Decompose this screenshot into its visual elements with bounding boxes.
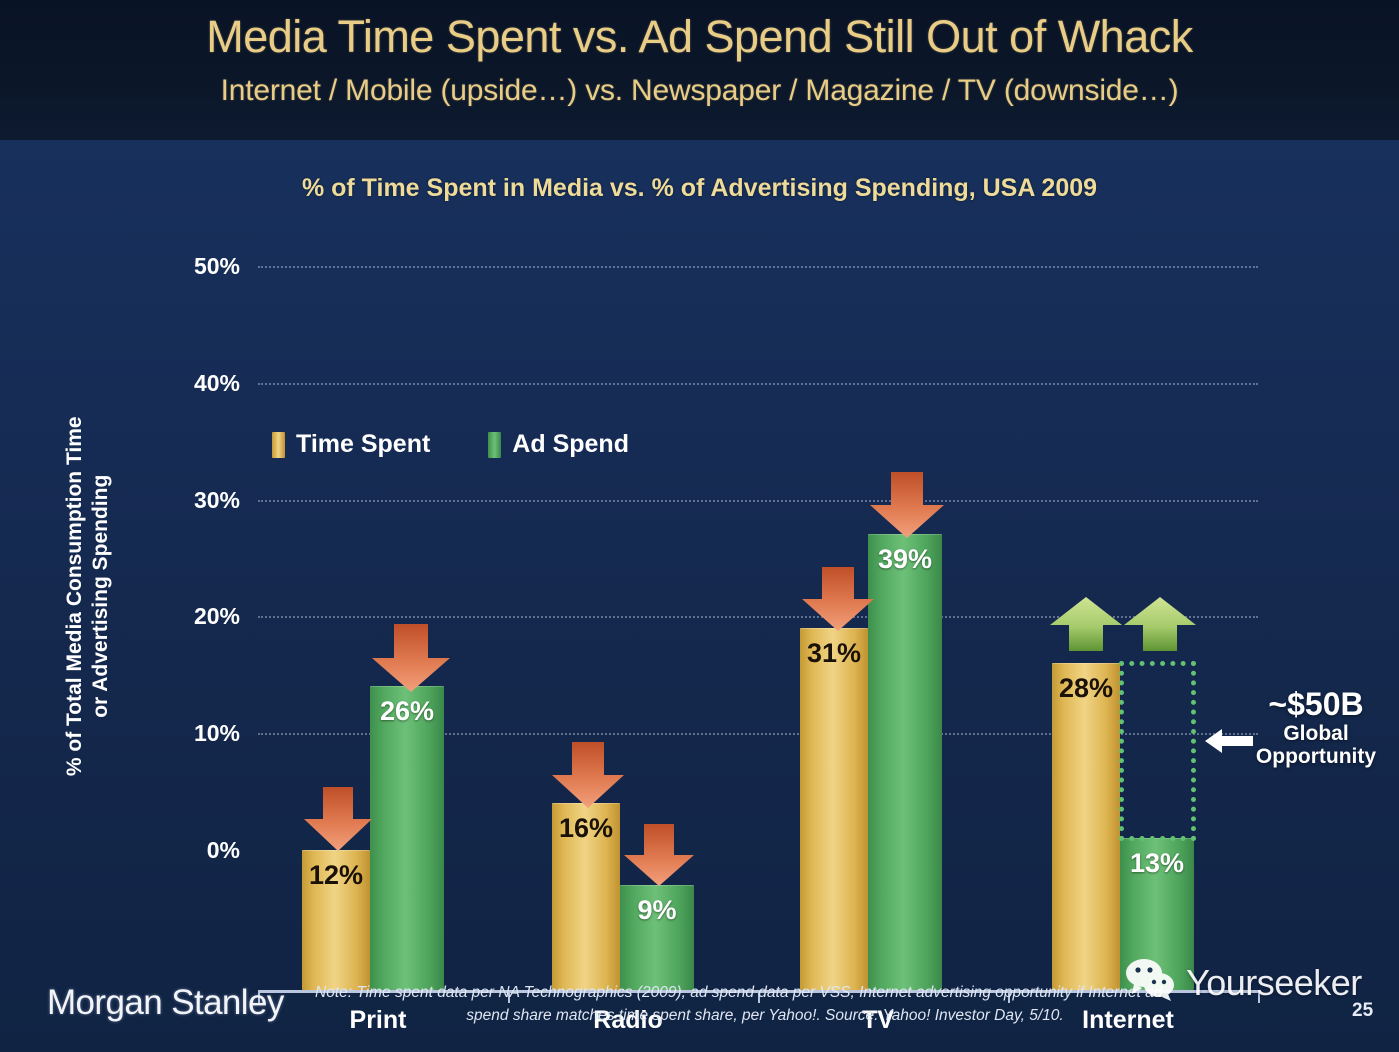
page-title: Media Time Spent vs. Ad Spend Still Out … (0, 11, 1399, 63)
bar-radio-time-spent: 16% (552, 803, 620, 990)
y-axis-title-line2: or Advertising Spending (89, 475, 112, 718)
bar-print-ad-spend: 26% (370, 686, 444, 990)
bar-print-time-spent: 12% (302, 850, 370, 990)
bar-label-radio-ad-spend: 9% (620, 895, 694, 926)
ytick-label-40: 40% (130, 370, 240, 397)
ytick-label-0: 0% (130, 837, 240, 864)
page-number: 25 (1352, 1000, 1373, 1022)
arrow-down-icon-tv-time-spent (798, 565, 878, 633)
legend-swatch-time-spent (272, 432, 285, 458)
gridline-50 (258, 266, 1258, 268)
callout-line-opportunity: Opportunity (1236, 745, 1396, 769)
opportunity-gap-box (1119, 661, 1196, 841)
morgan-stanley-logo: Morgan Stanley (47, 983, 284, 1023)
source-note: Note: Time spent data per NA Technograph… (315, 981, 1275, 1028)
gridline-40 (258, 383, 1258, 385)
arrow-down-icon-print-time-spent (300, 785, 376, 853)
legend-label-time-spent: Time Spent (296, 430, 430, 459)
chart-title: % of Time Spent in Media vs. % of Advert… (0, 174, 1399, 203)
slide-body: % of Time Spent in Media vs. % of Advert… (0, 140, 1399, 1052)
arrow-down-icon-radio-ad-spend (620, 822, 698, 888)
bar-label-print-time-spent: 12% (302, 860, 370, 891)
arrow-up-icon-internet-ad-spend (1120, 595, 1200, 653)
ytick-label-30: 30% (130, 487, 240, 514)
bar-label-print-ad-spend: 26% (370, 696, 444, 727)
chart-legend: Time Spent Ad Spend (272, 430, 629, 459)
y-axis-title: % of Total Media Consumption Time or Adv… (62, 386, 115, 806)
arrow-up-icon-internet-time-spent (1046, 595, 1126, 653)
legend-label-ad-spend: Ad Spend (512, 430, 629, 459)
bar-internet-ad-spend: 13% (1120, 838, 1194, 990)
bar-internet-time-spent: 28% (1052, 663, 1120, 990)
legend-item-ad-spend: Ad Spend (488, 430, 629, 459)
slide-header-band: Media Time Spent vs. Ad Spend Still Out … (0, 0, 1399, 140)
legend-item-time-spent: Time Spent (272, 430, 430, 459)
bar-radio-ad-spend: 9% (620, 885, 694, 990)
bar-label-tv-time-spent: 31% (800, 638, 868, 669)
y-axis-title-line1: % of Total Media Consumption Time (63, 416, 86, 776)
callout-amount: ~$50B (1236, 688, 1396, 722)
ytick-label-50: 50% (130, 253, 240, 280)
bar-tv-ad-spend: 39% (868, 534, 942, 990)
arrow-down-icon-print-ad-spend (368, 622, 454, 694)
ytick-label-20: 20% (130, 603, 240, 630)
source-note-line1: Note: Time spent data per NA Technograph… (315, 981, 1275, 1004)
page-subtitle: Internet / Mobile (upside…) vs. Newspape… (0, 74, 1399, 108)
bar-label-internet-ad-spend: 13% (1120, 848, 1194, 879)
bar-label-internet-time-spent: 28% (1052, 673, 1120, 704)
source-note-line2: spend share matches time spent share, pe… (315, 1004, 1275, 1027)
gridline-30 (258, 500, 1258, 502)
opportunity-callout: ~$50B Global Opportunity (1236, 688, 1396, 769)
ytick-label-10: 10% (130, 720, 240, 747)
bar-label-tv-ad-spend: 39% (868, 544, 942, 575)
arrow-down-icon-radio-time-spent (548, 740, 628, 810)
callout-line-global: Global (1236, 722, 1396, 746)
bar-tv-time-spent: 31% (800, 628, 868, 990)
legend-swatch-ad-spend (488, 432, 501, 458)
bar-label-radio-time-spent: 16% (552, 813, 620, 844)
arrow-down-icon-tv-ad-spend (866, 470, 948, 540)
